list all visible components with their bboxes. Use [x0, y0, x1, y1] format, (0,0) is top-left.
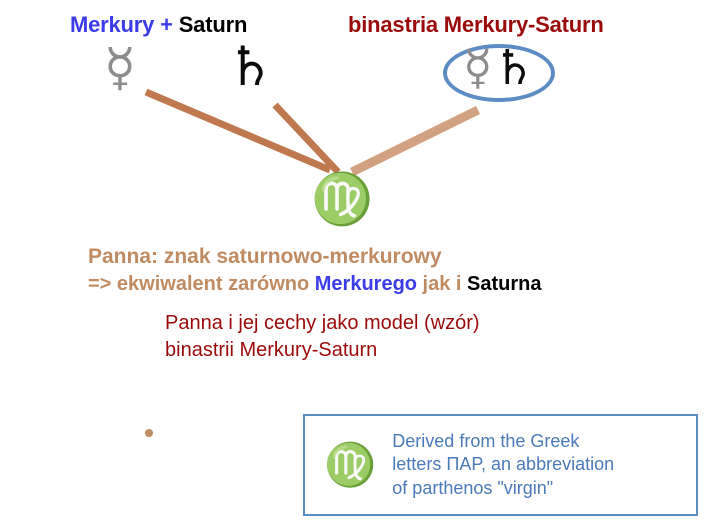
pair-mercury-symbol-icon: ☿ [463, 40, 492, 96]
model-description-line1: Panna i jej cechy jako model (wzór) [165, 310, 480, 337]
equivalence-mercury-word: Merkurego [315, 273, 417, 295]
connector-binastria-to-virgo [352, 110, 478, 172]
model-description-line2: binastrii Merkury-Saturn [165, 337, 480, 364]
equivalence-middle: jak i [417, 273, 467, 295]
equivalence-prefix: => ekwiwalent zarówno [88, 273, 315, 295]
bullet-dot-icon [145, 429, 153, 437]
pair-saturn-symbol-icon: ♄ [492, 40, 535, 96]
mercury-symbol-icon: ☿ [104, 42, 136, 94]
info-box-virgo-symbol-icon: ♍ [324, 444, 376, 486]
equivalence-saturn-word: Saturna [467, 273, 541, 295]
virgo-description-line2: => ekwiwalent zarówno Merkurego jak i Sa… [88, 271, 542, 297]
saturn-symbol-icon: ♄ [226, 40, 274, 94]
mercury-saturn-pair-icons: ☿♄ [463, 44, 536, 92]
heading-plus-sign: + [160, 12, 173, 37]
heading-saturn-word: Saturn [179, 12, 247, 37]
model-description-block: Panna i jej cechy jako model (wzór) bina… [165, 310, 480, 364]
connector-saturn-to-virgo [275, 105, 338, 172]
virgo-description-block: Panna: znak saturnowo-merkurowy => ekwiw… [88, 243, 542, 297]
connector-mercury-to-virgo [146, 92, 330, 170]
info-box-text: Derived from the Greek letters ΠΑΡ, an a… [392, 430, 696, 500]
heading-mercury-plus-saturn: Merkury + Saturn [70, 12, 247, 38]
diagram-canvas: Merkury + Saturn binastria Merkury-Satur… [0, 0, 719, 530]
virgo-description-line1: Panna: znak saturnowo-merkurowy [88, 243, 542, 271]
virgo-symbol-icon: ♍ [311, 174, 373, 224]
heading-mercury-word: Merkury [70, 12, 154, 37]
etymology-info-box: ♍ Derived from the Greek letters ΠΑΡ, an… [303, 414, 698, 516]
heading-binastria: binastria Merkury-Saturn [348, 12, 604, 38]
